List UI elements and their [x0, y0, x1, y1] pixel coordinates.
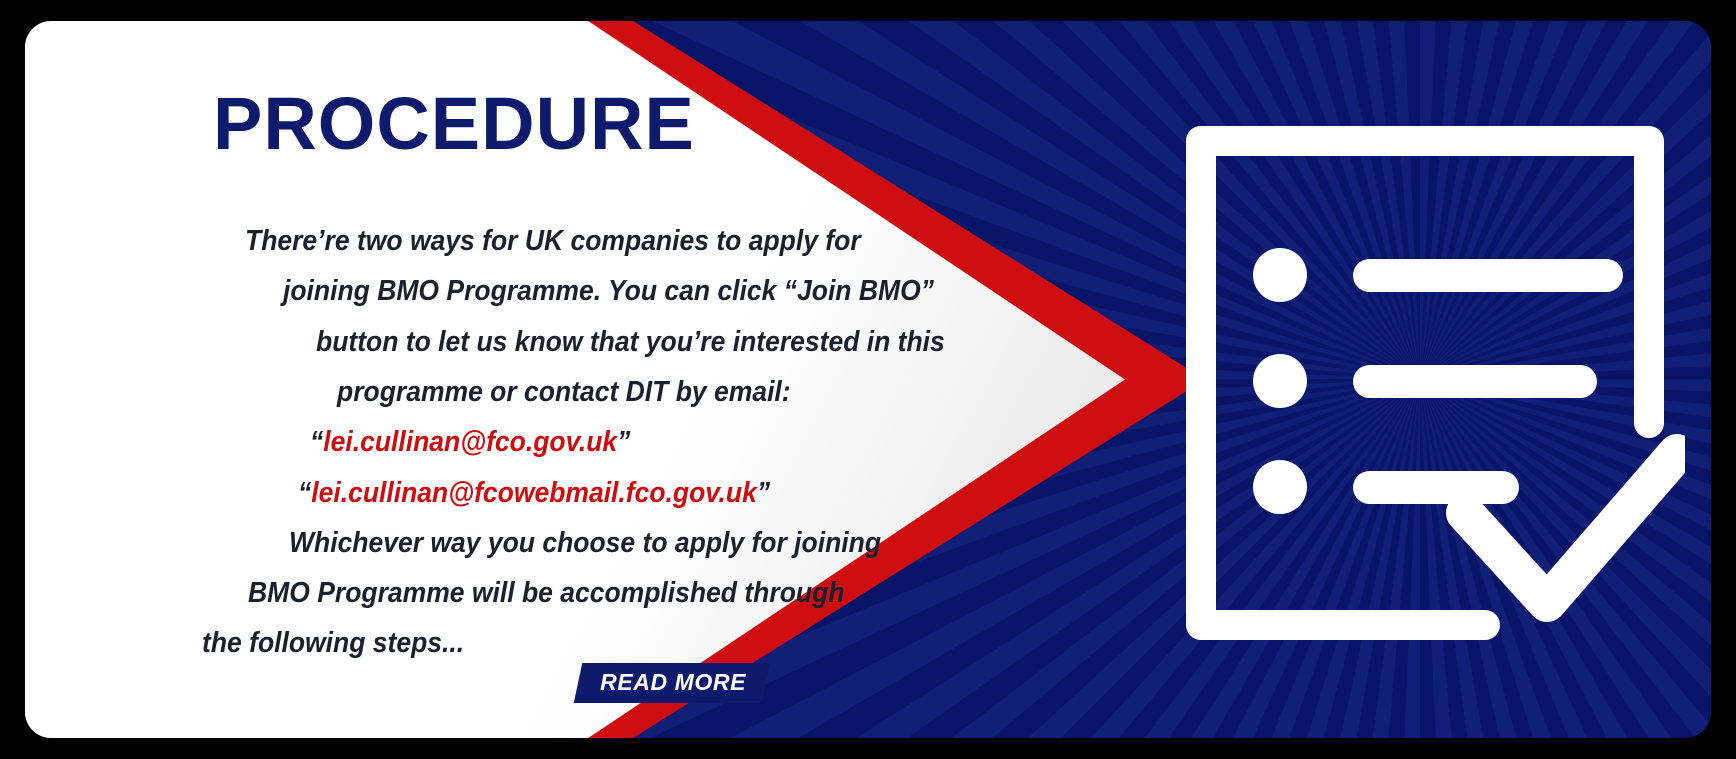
open-quote: “: [298, 477, 311, 509]
line-3: button to let us know that you’re intere…: [316, 326, 945, 359]
bullet-dot-2: [1253, 354, 1307, 408]
email-address[interactable]: lei.cullinan@fcowebmail.fco.gov.uk: [311, 477, 757, 509]
line-7: Whichever way you choose to apply for jo…: [289, 527, 881, 560]
bullet-dot-1: [1253, 248, 1307, 302]
line-8: BMO Programme will be accomplished throu…: [248, 577, 844, 610]
content-area: PROCEDURE There’re two ways for UK compa…: [25, 21, 1035, 738]
read-more-label: READ MORE: [600, 669, 746, 696]
email-line-2[interactable]: “lei.cullinan@fcowebmail.fco.gov.uk”: [298, 477, 770, 510]
line-4: programme or contact DIT by email:: [337, 376, 791, 409]
bullet-line-3: [1353, 471, 1519, 504]
bullet-dot-3: [1253, 460, 1307, 514]
read-more-button[interactable]: READ MORE: [574, 663, 770, 703]
page-title: PROCEDURE: [213, 87, 695, 161]
line-9: the following steps...: [202, 627, 464, 660]
checklist-with-checkmark-icon: [1165, 113, 1685, 653]
open-quote: “: [310, 426, 323, 458]
procedure-banner-card: PROCEDURE There’re two ways for UK compa…: [25, 21, 1711, 738]
email-line-1[interactable]: “lei.cullinan@fco.gov.uk”: [310, 426, 630, 459]
line-2: joining BMO Programme. You can click “Jo…: [283, 275, 934, 308]
close-quote: ”: [757, 477, 770, 509]
line-1: There’re two ways for UK companies to ap…: [245, 225, 861, 258]
email-address[interactable]: lei.cullinan@fco.gov.uk: [323, 426, 617, 458]
close-quote: ”: [617, 426, 630, 458]
bullet-line-1: [1353, 259, 1623, 292]
bullet-line-2: [1353, 365, 1597, 398]
